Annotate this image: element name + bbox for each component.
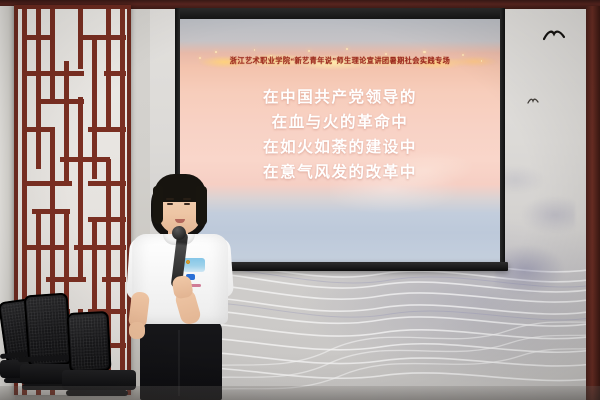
projector-screen-right-edge: [500, 8, 505, 270]
slide-line-3: 在如火如荼的建设中: [180, 135, 500, 160]
slide-header-title: 浙江艺术职业学院“新艺青年说”师生理论宣讲团暑期社会实践专场: [180, 56, 500, 66]
slide-line-2: 在血与火的革命中: [180, 110, 500, 135]
hair-side-left: [153, 186, 163, 224]
slide-line-1: 在中国共产党领导的: [180, 85, 500, 110]
floor-shadow: [0, 386, 600, 400]
t-shirt-logo-icon: [183, 258, 205, 272]
bird-silhouette-icon: [543, 28, 565, 42]
hair-side-right: [196, 186, 207, 226]
bird-silhouette-icon-small: [527, 97, 539, 105]
slide-body-text: 在中国共产党领导的 在血与火的革命中 在如火如荼的建设中 在意气风发的改革中: [180, 85, 500, 185]
eyebrow-right: [183, 198, 191, 200]
ink-mountain-wash: [495, 120, 575, 300]
eyebrow-left: [166, 198, 174, 200]
photo-scene: 浙江艺术职业学院“新艺青年说”师生理论宣讲团暑期社会实践专场 在中国共产党领导的…: [0, 0, 600, 400]
wall-pillar-right: [586, 6, 600, 400]
